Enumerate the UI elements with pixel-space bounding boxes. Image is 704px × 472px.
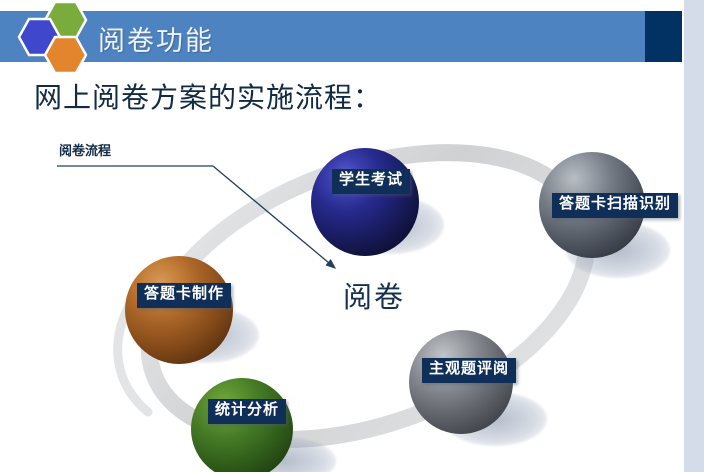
slide-canvas: 阅卷功能 网上阅卷方案的实施流程： 阅卷流程 阅卷 学生考试 答题卡扫描	[0, 0, 704, 472]
header-title: 阅卷功能	[98, 19, 214, 58]
node-label-subjective-grading[interactable]: 主观题评阅	[422, 358, 516, 383]
node-label-statistics-analysis[interactable]: 统计分析	[208, 399, 286, 424]
sphere-statistics-analysis[interactable]	[191, 378, 293, 472]
header-banner-end-cap	[645, 11, 684, 62]
callout-leader-arrow	[45, 150, 385, 330]
hex-orange-icon	[45, 37, 86, 73]
node-label-answer-card-scan[interactable]: 答题卡扫描识别	[552, 193, 678, 218]
presentation-gutter	[684, 0, 704, 472]
callout-arrow-line	[213, 166, 335, 268]
hexagon-cluster-logo	[8, 0, 100, 78]
center-keyword: 阅卷	[343, 274, 405, 316]
page-title: 网上阅卷方案的实施流程：	[34, 76, 382, 116]
callout-label: 阅卷流程	[59, 140, 111, 159]
